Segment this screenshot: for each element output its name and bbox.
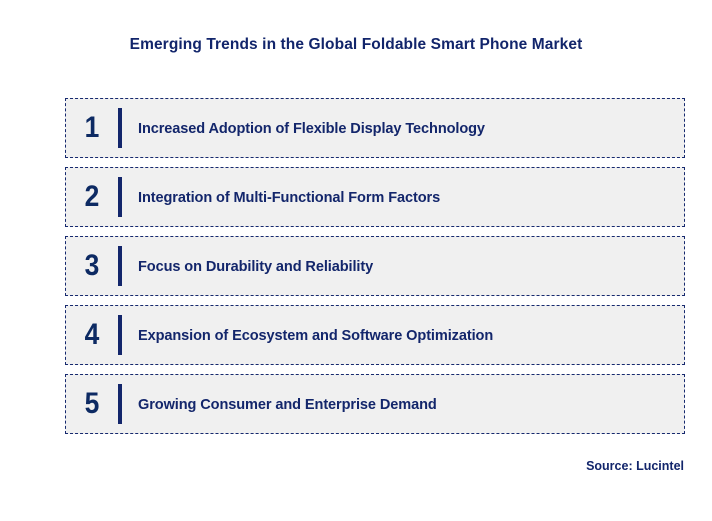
trend-label: Integration of Multi-Functional Form Fac… (138, 189, 668, 206)
trend-number: 3 (69, 251, 115, 281)
trend-row: 3 Focus on Durability and Reliability (65, 236, 685, 296)
trend-row: 1 Increased Adoption of Flexible Display… (65, 98, 685, 158)
trend-row: 2 Integration of Multi-Functional Form F… (65, 167, 685, 227)
trend-number: 5 (69, 389, 115, 419)
trend-row: 4 Expansion of Ecosystem and Software Op… (65, 305, 685, 365)
trend-divider (118, 384, 122, 424)
trend-divider (118, 108, 122, 148)
trend-row: 5 Growing Consumer and Enterprise Demand (65, 374, 685, 434)
trend-label: Increased Adoption of Flexible Display T… (138, 120, 668, 137)
trend-divider (118, 315, 122, 355)
page-title: Emerging Trends in the Global Foldable S… (0, 36, 712, 54)
trend-label: Growing Consumer and Enterprise Demand (138, 396, 668, 413)
trend-label: Expansion of Ecosystem and Software Opti… (138, 327, 668, 344)
trend-label: Focus on Durability and Reliability (138, 258, 668, 275)
trend-number: 1 (69, 113, 115, 143)
trend-divider (118, 177, 122, 217)
infographic-canvas: Emerging Trends in the Global Foldable S… (0, 0, 712, 521)
trend-number: 4 (69, 320, 115, 350)
trend-number: 2 (69, 182, 115, 212)
trend-divider (118, 246, 122, 286)
source-attribution: Source: Lucintel (586, 459, 684, 473)
trend-list: 1 Increased Adoption of Flexible Display… (65, 98, 685, 443)
